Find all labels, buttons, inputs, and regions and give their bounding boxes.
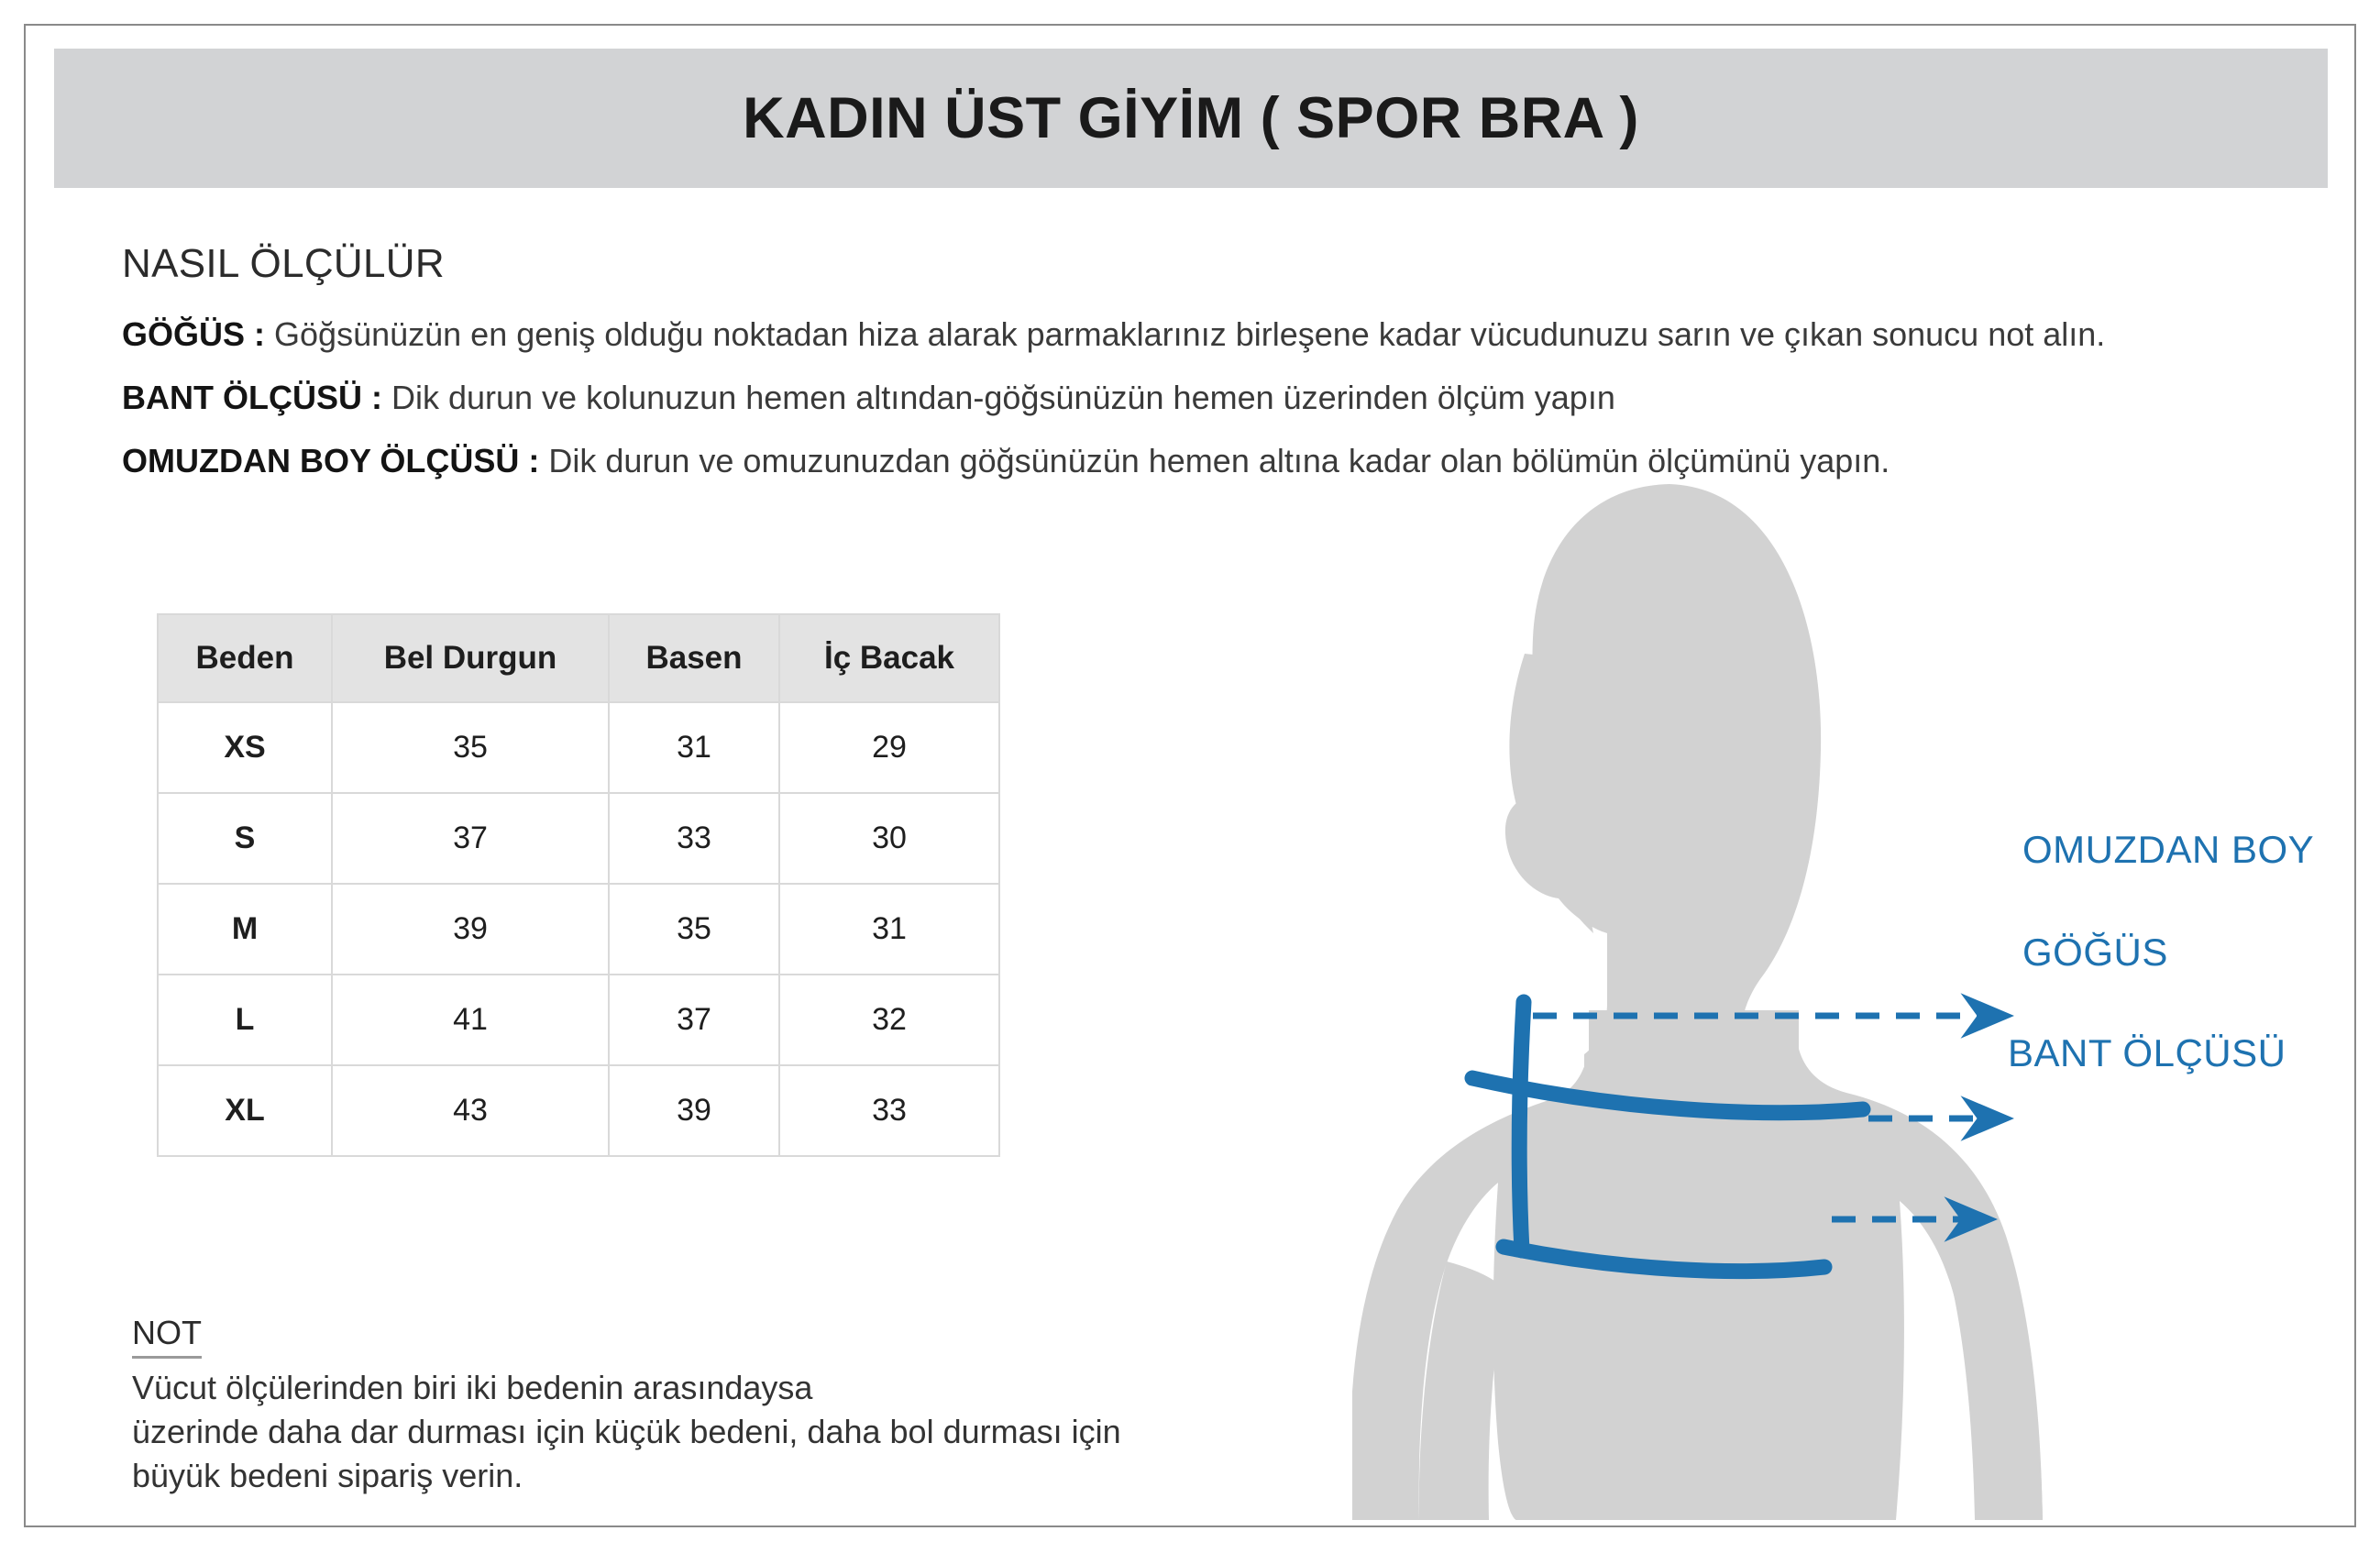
measure-instruction-bust: GÖĞÜS : Göğsünüzün en geniş olduğu nokta…: [122, 311, 2231, 358]
table-row: XL 43 39 33: [158, 1065, 999, 1156]
measure-instruction-band: BANT ÖLÇÜSÜ : Dik durun ve kolunuzun hem…: [122, 374, 2231, 421]
cell-inseam: 32: [779, 975, 999, 1065]
cell-waist: 41: [332, 975, 609, 1065]
table-row: XS 35 31 29: [158, 702, 999, 793]
note-line: büyük bedeni sipariş verin.: [132, 1454, 1370, 1498]
cell-inseam: 29: [779, 702, 999, 793]
table-row: M 39 35 31: [158, 884, 999, 975]
model-figure: [1309, 457, 2318, 1520]
measure-desc-band: Dik durun ve kolunuzun hemen altından-gö…: [382, 379, 1615, 416]
measure-term-band: BANT ÖLÇÜSÜ :: [122, 379, 382, 416]
cell-hip: 37: [609, 975, 779, 1065]
measure-term-shoulder: OMUZDAN BOY ÖLÇÜSÜ :: [122, 442, 539, 479]
table-header-row: Beden Bel Durgun Basen İç Bacak: [158, 614, 999, 702]
cell-size: XS: [158, 702, 332, 793]
column-header-size: Beden: [158, 614, 332, 702]
cell-hip: 33: [609, 793, 779, 884]
cell-hip: 31: [609, 702, 779, 793]
label-omuzdan-boy: OMUZDAN BOY: [2022, 828, 2314, 872]
column-header-waist: Bel Durgun: [332, 614, 609, 702]
cell-waist: 43: [332, 1065, 609, 1156]
how-to-measure-heading: NASIL ÖLÇÜLÜR: [122, 241, 2231, 287]
column-header-hip: Basen: [609, 614, 779, 702]
size-chart-table: Beden Bel Durgun Basen İç Bacak XS 35 31…: [157, 613, 1000, 1157]
female-silhouette: [1352, 484, 2043, 1520]
cell-waist: 37: [332, 793, 609, 884]
shoulder-length-stroke: [1519, 1002, 1524, 1250]
note-section: NOT Vücut ölçülerinden biri iki bedenin …: [132, 1314, 1370, 1498]
title-band: KADIN ÜST GİYİM ( SPOR BRA ): [54, 49, 2328, 188]
column-header-inseam: İç Bacak: [779, 614, 999, 702]
cell-size: S: [158, 793, 332, 884]
label-gogus: GÖĞÜS: [2022, 931, 2168, 975]
size-guide-card: KADIN ÜST GİYİM ( SPOR BRA ) NASIL ÖLÇÜL…: [24, 24, 2356, 1527]
cell-waist: 35: [332, 702, 609, 793]
note-line: Vücut ölçülerinden biri iki bedenin aras…: [132, 1366, 1370, 1410]
cell-size: M: [158, 884, 332, 975]
page-title: KADIN ÜST GİYİM ( SPOR BRA ): [743, 85, 1639, 151]
cell-inseam: 30: [779, 793, 999, 884]
note-line: üzerinde daha dar durması için küçük bed…: [132, 1410, 1370, 1454]
label-bant-olcusu: BANT ÖLÇÜSÜ: [2008, 1031, 2286, 1075]
table-row: L 41 37 32: [158, 975, 999, 1065]
measure-term-bust: GÖĞÜS :: [122, 315, 265, 353]
cell-inseam: 31: [779, 884, 999, 975]
cell-size: XL: [158, 1065, 332, 1156]
cell-hip: 39: [609, 1065, 779, 1156]
cell-size: L: [158, 975, 332, 1065]
cell-inseam: 33: [779, 1065, 999, 1156]
cell-hip: 35: [609, 884, 779, 975]
note-title: NOT: [132, 1314, 202, 1359]
cell-waist: 39: [332, 884, 609, 975]
measure-desc-bust: Göğsünüzün en geniş olduğu noktadan hiza…: [265, 315, 2105, 353]
table-row: S 37 33 30: [158, 793, 999, 884]
